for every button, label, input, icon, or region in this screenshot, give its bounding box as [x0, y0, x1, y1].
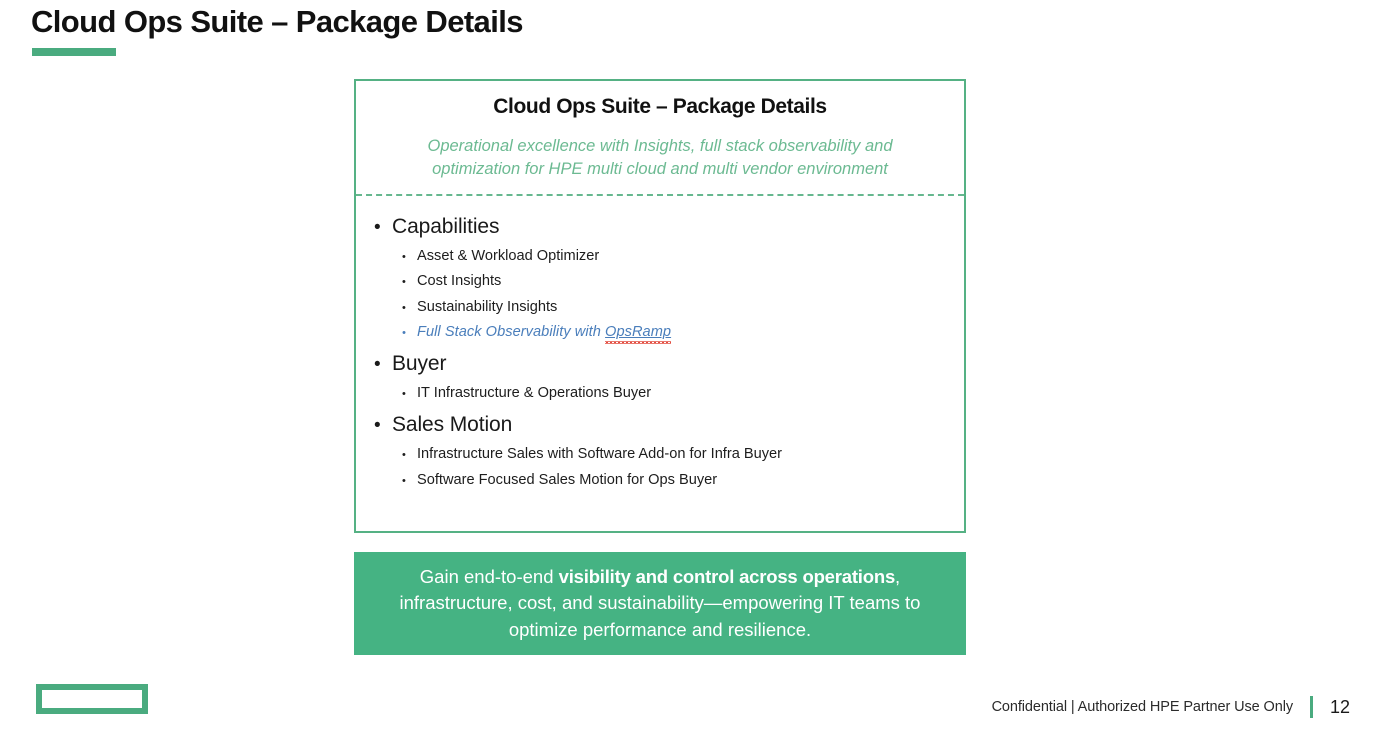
- bullet-dot-small-icon: •: [402, 245, 417, 269]
- sub-list: • Asset & Workload Optimizer • Cost Insi…: [374, 244, 964, 345]
- bullet-dot-small-icon: •: [402, 443, 417, 467]
- list-item: • Sustainability Insights: [374, 295, 964, 320]
- list-item: • Cost Insights: [374, 269, 964, 294]
- list-item-opsramp-link[interactable]: • Full Stack Observability with OpsRamp: [374, 320, 964, 345]
- list-item: • Asset & Workload Optimizer: [374, 244, 964, 269]
- list-item: • Infrastructure Sales with Software Add…: [374, 442, 964, 467]
- sub-list: • IT Infrastructure & Operations Buyer: [374, 381, 964, 406]
- value-statement-callout: Gain end-to-end visibility and control a…: [354, 552, 966, 655]
- list-item: • IT Infrastructure & Operations Buyer: [374, 381, 964, 406]
- confidentiality-notice: Confidential | Authorized HPE Partner Us…: [992, 699, 1293, 715]
- callout-text: Gain end-to-end visibility and control a…: [354, 564, 966, 644]
- bullet-group-buyer: • Buyer • IT Infrastructure & Operations…: [374, 349, 964, 406]
- opsramp-hyperlink[interactable]: OpsRamp: [605, 324, 671, 340]
- sub-list: • Infrastructure Sales with Software Add…: [374, 442, 964, 493]
- list-item: • Software Focused Sales Motion for Ops …: [374, 468, 964, 493]
- bullet-dot-icon: •: [374, 350, 392, 380]
- bullet-dot-icon: •: [374, 213, 392, 243]
- package-details-card: Cloud Ops Suite – Package Details Operat…: [354, 79, 966, 533]
- list-item-label: Infrastructure Sales with Software Add-o…: [417, 442, 782, 466]
- group-heading-label: Sales Motion: [392, 410, 512, 440]
- bullet-dot-small-icon: •: [402, 321, 417, 345]
- footer: Confidential | Authorized HPE Partner Us…: [992, 696, 1350, 718]
- card-title: Cloud Ops Suite – Package Details: [356, 95, 964, 119]
- page-title: Cloud Ops Suite – Package Details: [31, 4, 523, 40]
- list-item-label: Sustainability Insights: [417, 295, 557, 319]
- list-item-label: IT Infrastructure & Operations Buyer: [417, 381, 651, 405]
- bullet-group-capabilities: • Capabilities • Asset & Workload Optimi…: [374, 212, 964, 345]
- callout-lead-text: Gain end-to-end: [420, 566, 559, 587]
- hpe-logo: [36, 684, 148, 714]
- page-number: 12: [1330, 697, 1350, 718]
- bullet-dot-small-icon: •: [402, 382, 417, 406]
- bullet-dot-small-icon: •: [402, 270, 417, 294]
- group-heading-label: Capabilities: [392, 212, 499, 242]
- capabilities-bullet-list: • Capabilities • Asset & Workload Optimi…: [356, 196, 964, 493]
- bullet-group-sales-motion: • Sales Motion • Infrastructure Sales wi…: [374, 410, 964, 493]
- list-item-label: Asset & Workload Optimizer: [417, 244, 599, 268]
- list-item-label: Full Stack Observability with OpsRamp: [417, 320, 671, 344]
- footer-separator: [1310, 696, 1313, 718]
- list-item-label: Cost Insights: [417, 269, 501, 293]
- group-heading: • Buyer: [374, 349, 964, 380]
- group-heading-label: Buyer: [392, 349, 446, 379]
- list-item-label: Software Focused Sales Motion for Ops Bu…: [417, 468, 717, 492]
- title-accent-bar: [32, 48, 116, 56]
- callout-bold-text: visibility and control across operations: [559, 566, 895, 587]
- group-heading: • Capabilities: [374, 212, 964, 243]
- bullet-dot-small-icon: •: [402, 469, 417, 493]
- bullet-dot-icon: •: [374, 411, 392, 441]
- bullet-dot-small-icon: •: [402, 296, 417, 320]
- card-subtitle: Operational excellence with Insights, fu…: [356, 135, 964, 181]
- group-heading: • Sales Motion: [374, 410, 964, 441]
- list-item-label-text: Full Stack Observability with: [417, 324, 605, 340]
